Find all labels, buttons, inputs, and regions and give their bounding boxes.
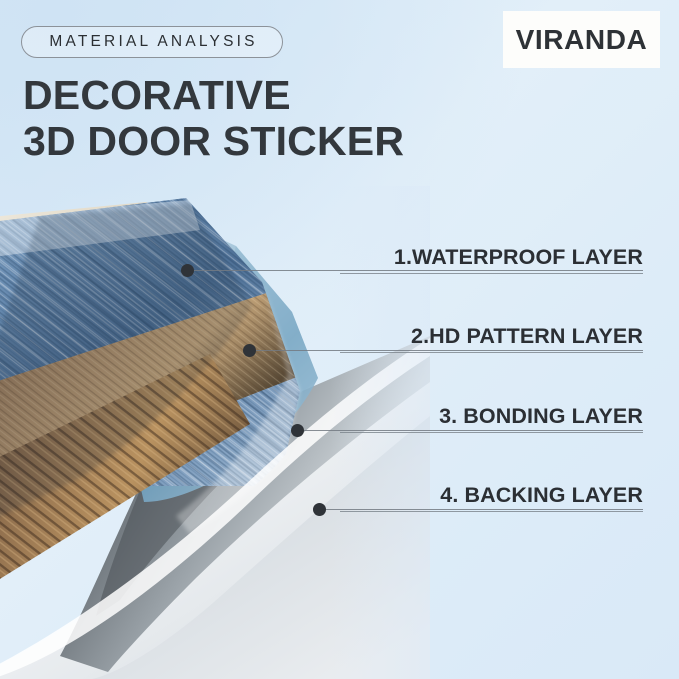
callout-label-hd-pattern: 2.HD PATTERN LAYER [411,324,643,349]
callout-dot-bonding [291,424,304,437]
title-line-1: DECORATIVE [23,72,493,118]
title-line-2: 3D DOOR STICKER [23,118,493,164]
leader-line-waterproof [187,270,643,271]
infographic-poster: MATERIAL ANALYSIS VIRANDA DECORATIVE 3D … [0,0,679,679]
callout-label-bonding: 3. BONDING LAYER [439,404,643,429]
page-title: DECORATIVE 3D DOOR STICKER [23,72,493,164]
brand-logo-badge: VIRANDA [503,11,660,68]
leader-line-backing [319,509,643,510]
callout-label-waterproof: 1.WATERPROOF LAYER [394,245,643,270]
leader-line-hd-pattern [249,350,643,351]
callout-rule-hd-pattern [340,352,643,353]
callout-dot-hd-pattern [243,344,256,357]
eyebrow-label: MATERIAL ANALYSIS [46,33,257,51]
callout-dot-waterproof [181,264,194,277]
callout-rule-backing [340,511,643,512]
callout-dot-backing [313,503,326,516]
callout-rule-bonding [340,432,643,433]
brand-name: VIRANDA [516,24,648,56]
callout-rule-waterproof [340,273,643,274]
eyebrow-badge: MATERIAL ANALYSIS [21,26,283,58]
callout-label-backing: 4. BACKING LAYER [440,483,643,508]
leader-line-bonding [297,430,643,431]
